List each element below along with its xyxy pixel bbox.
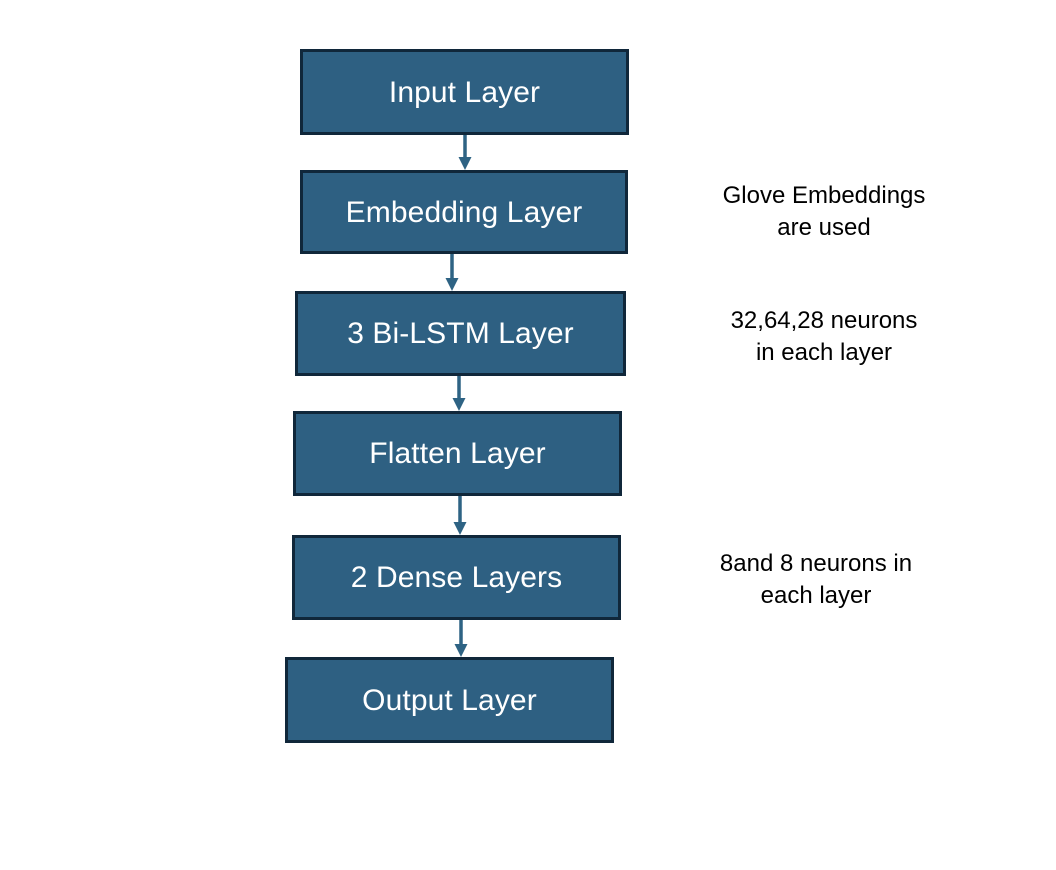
connector-flatten-to-dense <box>447 496 473 536</box>
connector-bilstm-to-flatten <box>446 376 472 412</box>
annotation-embedding-note: Glove Embeddings are used <box>664 180 984 243</box>
node-bilstm-layer-label: 3 Bi-LSTM Layer <box>347 317 574 350</box>
node-flatten-layer[interactable]: Flatten Layer <box>293 411 622 496</box>
diagram-canvas: Input Layer Embedding Layer 3 Bi-LSTM La… <box>0 0 1056 870</box>
node-embedding-layer[interactable]: Embedding Layer <box>300 170 628 254</box>
annotation-dense-note: 8and 8 neurons in each layer <box>656 548 976 611</box>
connector-embedding-to-bilstm <box>439 254 465 292</box>
connector-dense-to-output <box>448 620 474 658</box>
node-bilstm-layer[interactable]: 3 Bi-LSTM Layer <box>295 291 626 376</box>
node-output-layer[interactable]: Output Layer <box>285 657 614 743</box>
annotation-bilstm-note: 32,64,28 neurons in each layer <box>664 305 984 368</box>
node-flatten-layer-label: Flatten Layer <box>369 437 545 470</box>
node-input-layer-label: Input Layer <box>389 76 540 109</box>
node-dense-layers[interactable]: 2 Dense Layers <box>292 535 621 620</box>
node-embedding-layer-label: Embedding Layer <box>346 196 583 229</box>
connector-input-to-embedding <box>452 135 478 171</box>
node-input-layer[interactable]: Input Layer <box>300 49 629 135</box>
node-dense-layers-label: 2 Dense Layers <box>351 561 563 594</box>
node-output-layer-label: Output Layer <box>362 684 537 717</box>
